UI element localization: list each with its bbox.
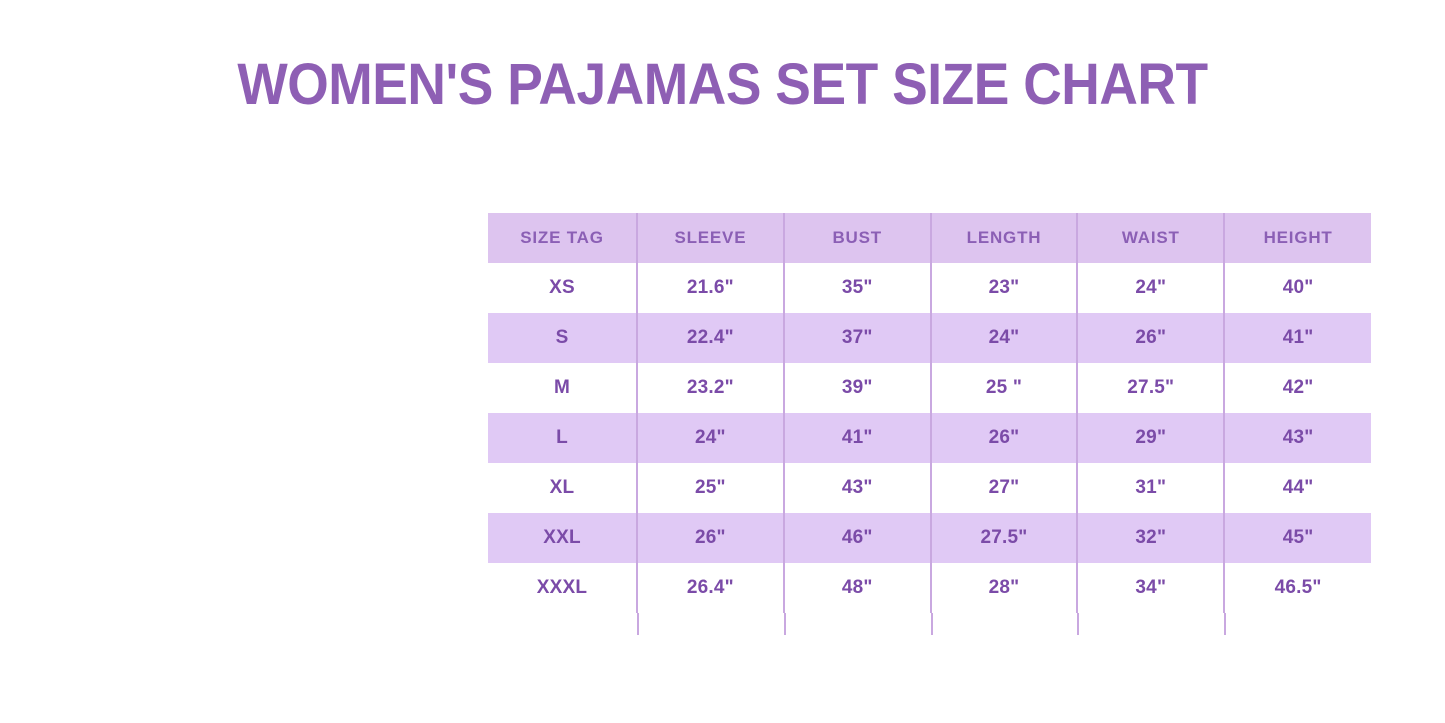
cell-size-tag: S [488, 313, 637, 363]
cell-height: 45" [1224, 513, 1371, 563]
cell-sleeve: 25" [637, 463, 784, 513]
cell-bust: 35" [784, 263, 931, 313]
cell-bust: 48" [784, 563, 931, 613]
cell-sleeve: 26" [637, 513, 784, 563]
cell-bust: 41" [784, 413, 931, 463]
divider-line [1077, 613, 1079, 635]
cell-length: 27" [931, 463, 1078, 513]
cell-size-tag: L [488, 413, 637, 463]
table-row: XXXL 26.4" 48" 28" 34" 46.5" [488, 563, 1371, 613]
cell-waist: 24" [1077, 263, 1224, 313]
cell-sleeve: 21.6" [637, 263, 784, 313]
table-row: L 24" 41" 26" 29" 43" [488, 413, 1371, 463]
table-divider-extensions [488, 613, 1371, 635]
column-header-size-tag: SIZE TAG [488, 213, 637, 263]
cell-height: 44" [1224, 463, 1371, 513]
cell-waist: 34" [1077, 563, 1224, 613]
column-header-sleeve: SLEEVE [637, 213, 784, 263]
cell-waist: 31" [1077, 463, 1224, 513]
cell-size-tag: XXL [488, 513, 637, 563]
cell-size-tag: M [488, 363, 637, 413]
table-row: XL 25" 43" 27" 31" 44" [488, 463, 1371, 513]
cell-sleeve: 26.4" [637, 563, 784, 613]
divider-line [784, 613, 786, 635]
cell-height: 42" [1224, 363, 1371, 413]
cell-bust: 43" [784, 463, 931, 513]
cell-length: 25 " [931, 363, 1078, 413]
size-chart-table-container: SIZE TAG SLEEVE BUST LENGTH WAIST HEIGHT… [488, 213, 1371, 635]
table-header-row: SIZE TAG SLEEVE BUST LENGTH WAIST HEIGHT [488, 213, 1371, 263]
table-row: M 23.2" 39" 25 " 27.5" 42" [488, 363, 1371, 413]
cell-length: 28" [931, 563, 1078, 613]
cell-height: 46.5" [1224, 563, 1371, 613]
cell-sleeve: 22.4" [637, 313, 784, 363]
cell-length: 23" [931, 263, 1078, 313]
cell-waist: 26" [1077, 313, 1224, 363]
cell-sleeve: 24" [637, 413, 784, 463]
divider-line [637, 613, 639, 635]
cell-size-tag: XS [488, 263, 637, 313]
divider-line [931, 613, 933, 635]
table-row: XS 21.6" 35" 23" 24" 40" [488, 263, 1371, 313]
cell-waist: 32" [1077, 513, 1224, 563]
cell-length: 27.5" [931, 513, 1078, 563]
cell-sleeve: 23.2" [637, 363, 784, 413]
cell-length: 26" [931, 413, 1078, 463]
cell-waist: 27.5" [1077, 363, 1224, 413]
divider-line [1224, 613, 1226, 635]
cell-height: 41" [1224, 313, 1371, 363]
cell-size-tag: XL [488, 463, 637, 513]
column-header-height: HEIGHT [1224, 213, 1371, 263]
table-row: XXL 26" 46" 27.5" 32" 45" [488, 513, 1371, 563]
cell-length: 24" [931, 313, 1078, 363]
column-header-length: LENGTH [931, 213, 1078, 263]
table-row: S 22.4" 37" 24" 26" 41" [488, 313, 1371, 363]
cell-height: 43" [1224, 413, 1371, 463]
column-header-bust: BUST [784, 213, 931, 263]
cell-bust: 46" [784, 513, 931, 563]
cell-bust: 39" [784, 363, 931, 413]
cell-size-tag: XXXL [488, 563, 637, 613]
column-header-waist: WAIST [1077, 213, 1224, 263]
size-chart-table: SIZE TAG SLEEVE BUST LENGTH WAIST HEIGHT… [488, 213, 1371, 613]
cell-waist: 29" [1077, 413, 1224, 463]
page-title: WOMEN'S PAJAMAS SET SIZE CHART [58, 53, 1387, 117]
cell-height: 40" [1224, 263, 1371, 313]
cell-bust: 37" [784, 313, 931, 363]
